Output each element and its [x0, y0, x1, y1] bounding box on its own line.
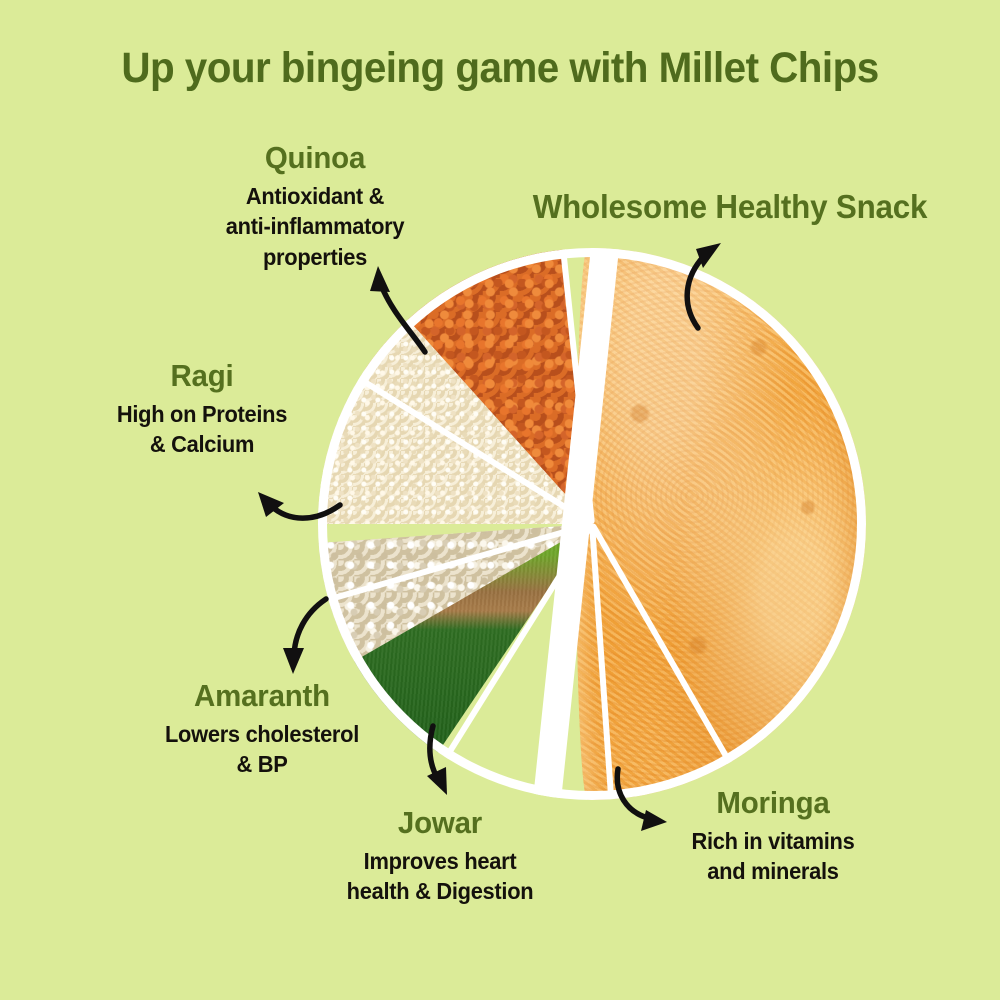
callout-ragi-desc-line-1: High on Proteins	[60, 399, 345, 430]
callout-jowar-desc-line-2: health & Digestion	[288, 876, 592, 907]
callout-quinoa-desc-line-1: Antioxidant &	[168, 181, 463, 212]
callout-quinoa: Quinoa Antioxidant & anti-inflammatory p…	[160, 140, 470, 272]
callout-amaranth-desc-line-1: Lowers cholesterol	[120, 719, 405, 750]
callout-quinoa-desc-line-3: properties	[168, 242, 463, 273]
page-title: Up your bingeing game with Millet Chips	[30, 44, 970, 93]
callout-ragi-description: High on Proteins & Calcium	[60, 399, 345, 460]
callout-moringa: Moringa Rich in vitamins and minerals	[628, 785, 918, 887]
callout-quinoa-title: Quinoa	[168, 140, 463, 177]
callout-moringa-desc-line-2: and minerals	[635, 856, 911, 887]
infographic-poster: Up your bingeing game with Millet Chips	[0, 0, 1000, 1000]
callout-amaranth-desc-line-2: & BP	[120, 749, 405, 780]
callout-ragi-title: Ragi	[60, 358, 345, 395]
callout-jowar-desc-line-1: Improves heart	[288, 846, 592, 877]
callout-wholesome-title: Wholesome Healthy Snack	[507, 188, 954, 227]
callout-quinoa-description: Antioxidant & anti-inflammatory properti…	[168, 181, 463, 273]
callout-amaranth-description: Lowers cholesterol & BP	[120, 719, 405, 780]
callout-quinoa-desc-line-2: anti-inflammatory	[168, 211, 463, 242]
callout-ragi: Ragi High on Proteins & Calcium	[52, 358, 352, 460]
callout-moringa-title: Moringa	[635, 785, 911, 822]
callout-amaranth: Amaranth Lowers cholesterol & BP	[112, 678, 412, 780]
callout-jowar: Jowar Improves heart health & Digestion	[280, 805, 600, 907]
callout-ragi-desc-line-2: & Calcium	[60, 429, 345, 460]
callout-moringa-desc-line-1: Rich in vitamins	[635, 826, 911, 857]
callout-amaranth-title: Amaranth	[120, 678, 405, 715]
millet-chip	[576, 248, 866, 800]
callout-wholesome-healthy-snack: Wholesome Healthy Snack	[495, 188, 965, 231]
callout-jowar-description: Improves heart health & Digestion	[288, 846, 592, 907]
callout-jowar-title: Jowar	[288, 805, 592, 842]
callout-moringa-description: Rich in vitamins and minerals	[635, 826, 911, 887]
